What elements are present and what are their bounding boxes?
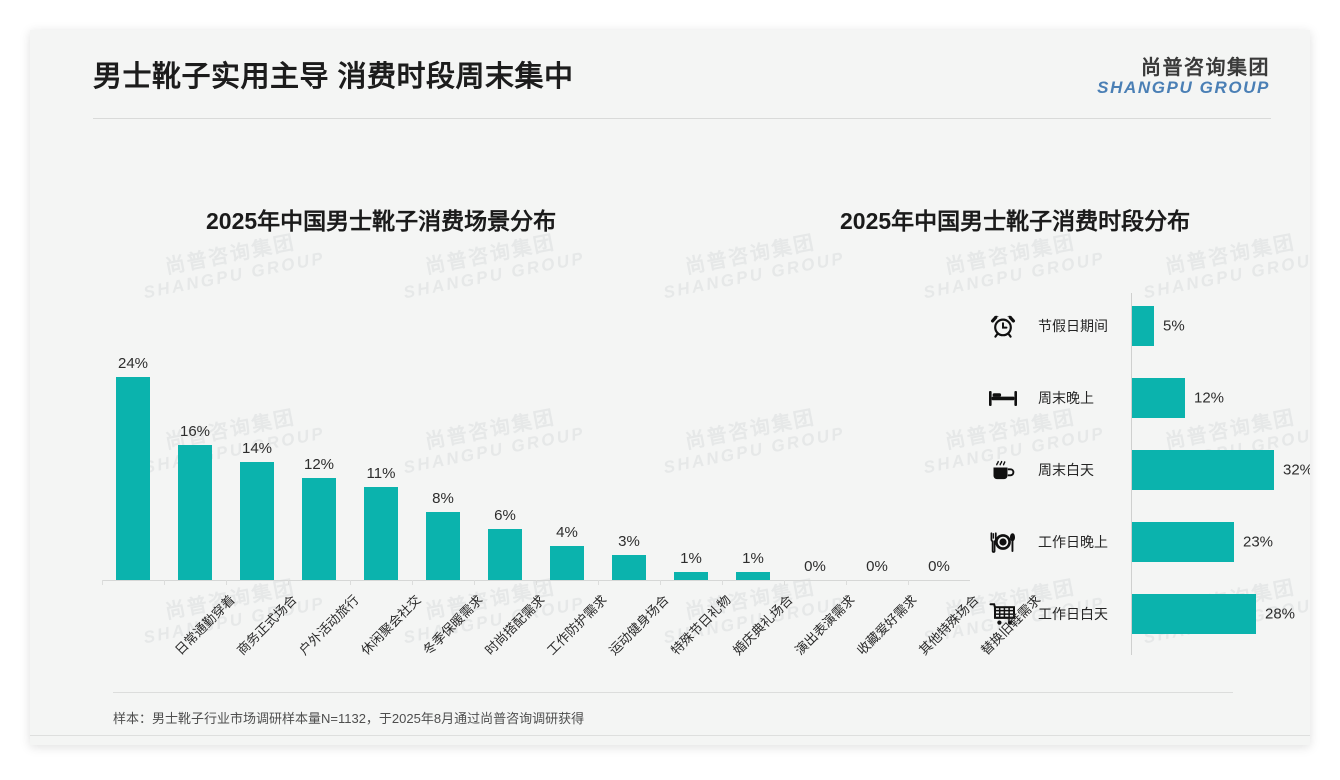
slide-page: 尚普咨询集团SHANGPU GROUP尚普咨询集团SHANGPU GROUP尚普… <box>0 0 1340 780</box>
category-label: 收藏爱好需求 <box>852 590 921 659</box>
bar-value-label: 16% <box>180 423 210 440</box>
time-period-label: 周末白天 <box>1038 460 1094 480</box>
bar-value-label: 1% <box>742 550 764 567</box>
axis-tick <box>598 580 599 585</box>
right-chart-title: 2025年中国男士靴子消费时段分布 <box>840 202 1190 236</box>
bar-column[interactable] <box>784 360 846 580</box>
bar-value-label: 0% <box>866 558 888 575</box>
bar-value-label: 24% <box>118 355 148 372</box>
time-period-row[interactable]: 周末晚上12% <box>970 367 1280 429</box>
category-label: 婚庆典礼场合 <box>728 590 797 659</box>
category-label: 户外活动旅行 <box>294 590 363 659</box>
page-title: 男士靴子实用主导 消费时段周末集中 <box>93 53 574 95</box>
category-label: 特殊节日礼物 <box>666 590 735 659</box>
axis-tick <box>474 580 475 585</box>
axis-tick <box>164 580 165 585</box>
left-chart-title: 2025年中国男士靴子消费场景分布 <box>206 202 556 236</box>
bar-column[interactable] <box>164 360 226 580</box>
footer-divider <box>30 735 1310 736</box>
bar[interactable] <box>364 487 398 580</box>
bar-value-label: 6% <box>494 507 516 524</box>
sample-footnote: 样本：男士靴子行业市场调研样本量N=1132，于2025年8月通过尚普咨询调研获… <box>113 708 584 727</box>
watermark-text: 尚普咨询集团SHANGPU GROUP <box>658 228 847 302</box>
bar[interactable] <box>426 512 460 580</box>
bar[interactable] <box>612 555 646 580</box>
category-label: 商务正式场合 <box>232 590 301 659</box>
axis-tick <box>412 580 413 585</box>
time-period-row[interactable]: 周末白天32% <box>970 439 1280 501</box>
slide-header: 男士靴子实用主导 消费时段周末集中 尚普咨询集团 SHANGPU GROUP <box>30 30 1310 120</box>
category-label: 演出表演需求 <box>790 590 859 659</box>
category-label: 冬季保暖需求 <box>418 590 487 659</box>
bar-value-label: 5% <box>1163 318 1185 335</box>
bar[interactable] <box>116 377 150 580</box>
axis-tick <box>102 580 103 585</box>
alarm-clock-icon <box>986 309 1020 343</box>
bar-value-label: 11% <box>367 465 396 482</box>
bar-column[interactable] <box>846 360 908 580</box>
bar-column[interactable] <box>412 360 474 580</box>
bar-value-label: 14% <box>242 440 272 457</box>
category-label: 休闲聚会社交 <box>356 590 425 659</box>
axis-tick <box>908 580 909 585</box>
category-label: 工作防护需求 <box>542 590 611 659</box>
axis-tick <box>288 580 289 585</box>
category-label: 时尚搭配需求 <box>480 590 549 659</box>
bar-column[interactable] <box>226 360 288 580</box>
bar-column[interactable] <box>474 360 536 580</box>
bar[interactable] <box>1132 378 1185 418</box>
footnote-divider <box>113 692 1233 693</box>
bar-value-label: 32% <box>1283 462 1310 479</box>
bar-column[interactable] <box>660 360 722 580</box>
time-period-label: 工作日白天 <box>1038 604 1108 624</box>
category-label: 日常通勤穿着 <box>170 590 239 659</box>
axis-tick <box>846 580 847 585</box>
bar-column[interactable] <box>908 360 970 580</box>
bar[interactable] <box>736 572 770 580</box>
axis-tick <box>536 580 537 585</box>
time-period-label: 周末晚上 <box>1038 388 1094 408</box>
bar-value-label: 3% <box>618 533 640 550</box>
watermark-text: 尚普咨询集团SHANGPU GROUP <box>138 228 327 302</box>
time-period-row[interactable]: 工作日晚上23% <box>970 511 1280 573</box>
bed-icon <box>986 381 1020 415</box>
bar[interactable] <box>178 445 212 580</box>
bar-value-label: 8% <box>432 490 454 507</box>
axis-tick <box>350 580 351 585</box>
bar-value-label: 0% <box>928 558 950 575</box>
time-period-row[interactable]: 节假日期间5% <box>970 295 1280 357</box>
slide-card: 尚普咨询集团SHANGPU GROUP尚普咨询集团SHANGPU GROUP尚普… <box>30 30 1310 745</box>
header-divider <box>93 118 1271 119</box>
bar[interactable] <box>674 572 708 580</box>
bar-column[interactable] <box>536 360 598 580</box>
axis-tick <box>784 580 785 585</box>
bar-column[interactable] <box>102 360 164 580</box>
logo-chinese-text: 尚普咨询集团 <box>1097 58 1270 79</box>
logo-english-text: SHANGPU GROUP <box>1097 79 1270 97</box>
watermark-text: 尚普咨询集团SHANGPU GROUP <box>1138 228 1310 302</box>
bar[interactable] <box>302 478 336 580</box>
bar[interactable] <box>488 529 522 580</box>
watermark-text: 尚普咨询集团SHANGPU GROUP <box>398 228 587 302</box>
bar[interactable] <box>1132 450 1274 490</box>
axis-tick <box>722 580 723 585</box>
bar-value-label: 1% <box>680 550 702 567</box>
watermark-text: 尚普咨询集团SHANGPU GROUP <box>918 228 1107 302</box>
coffee-mug-icon <box>986 453 1020 487</box>
bar[interactable] <box>1132 594 1256 634</box>
brand-logo: 尚普咨询集团 SHANGPU GROUP <box>1097 58 1270 97</box>
bar[interactable] <box>240 462 274 580</box>
bar-value-label: 0% <box>804 558 826 575</box>
time-period-label: 节假日期间 <box>1038 316 1108 336</box>
bar-value-label: 28% <box>1265 606 1295 623</box>
bar-value-label: 4% <box>556 524 578 541</box>
bar[interactable] <box>550 546 584 580</box>
scenario-distribution-bar-chart <box>102 360 972 580</box>
bar[interactable] <box>1132 522 1234 562</box>
axis-tick <box>660 580 661 585</box>
bar-value-label: 12% <box>304 456 334 473</box>
time-period-label: 工作日晚上 <box>1038 532 1108 552</box>
bar[interactable] <box>1132 306 1154 346</box>
axis-tick <box>226 580 227 585</box>
watermark-text: 尚普咨询集团SHANGPU GROUP <box>138 573 327 647</box>
cutlery-icon <box>986 525 1020 559</box>
category-label: 运动健身场合 <box>604 590 673 659</box>
bar-column[interactable] <box>722 360 784 580</box>
bar-value-label: 12% <box>1194 390 1224 407</box>
bar-value-label: 23% <box>1243 534 1273 551</box>
